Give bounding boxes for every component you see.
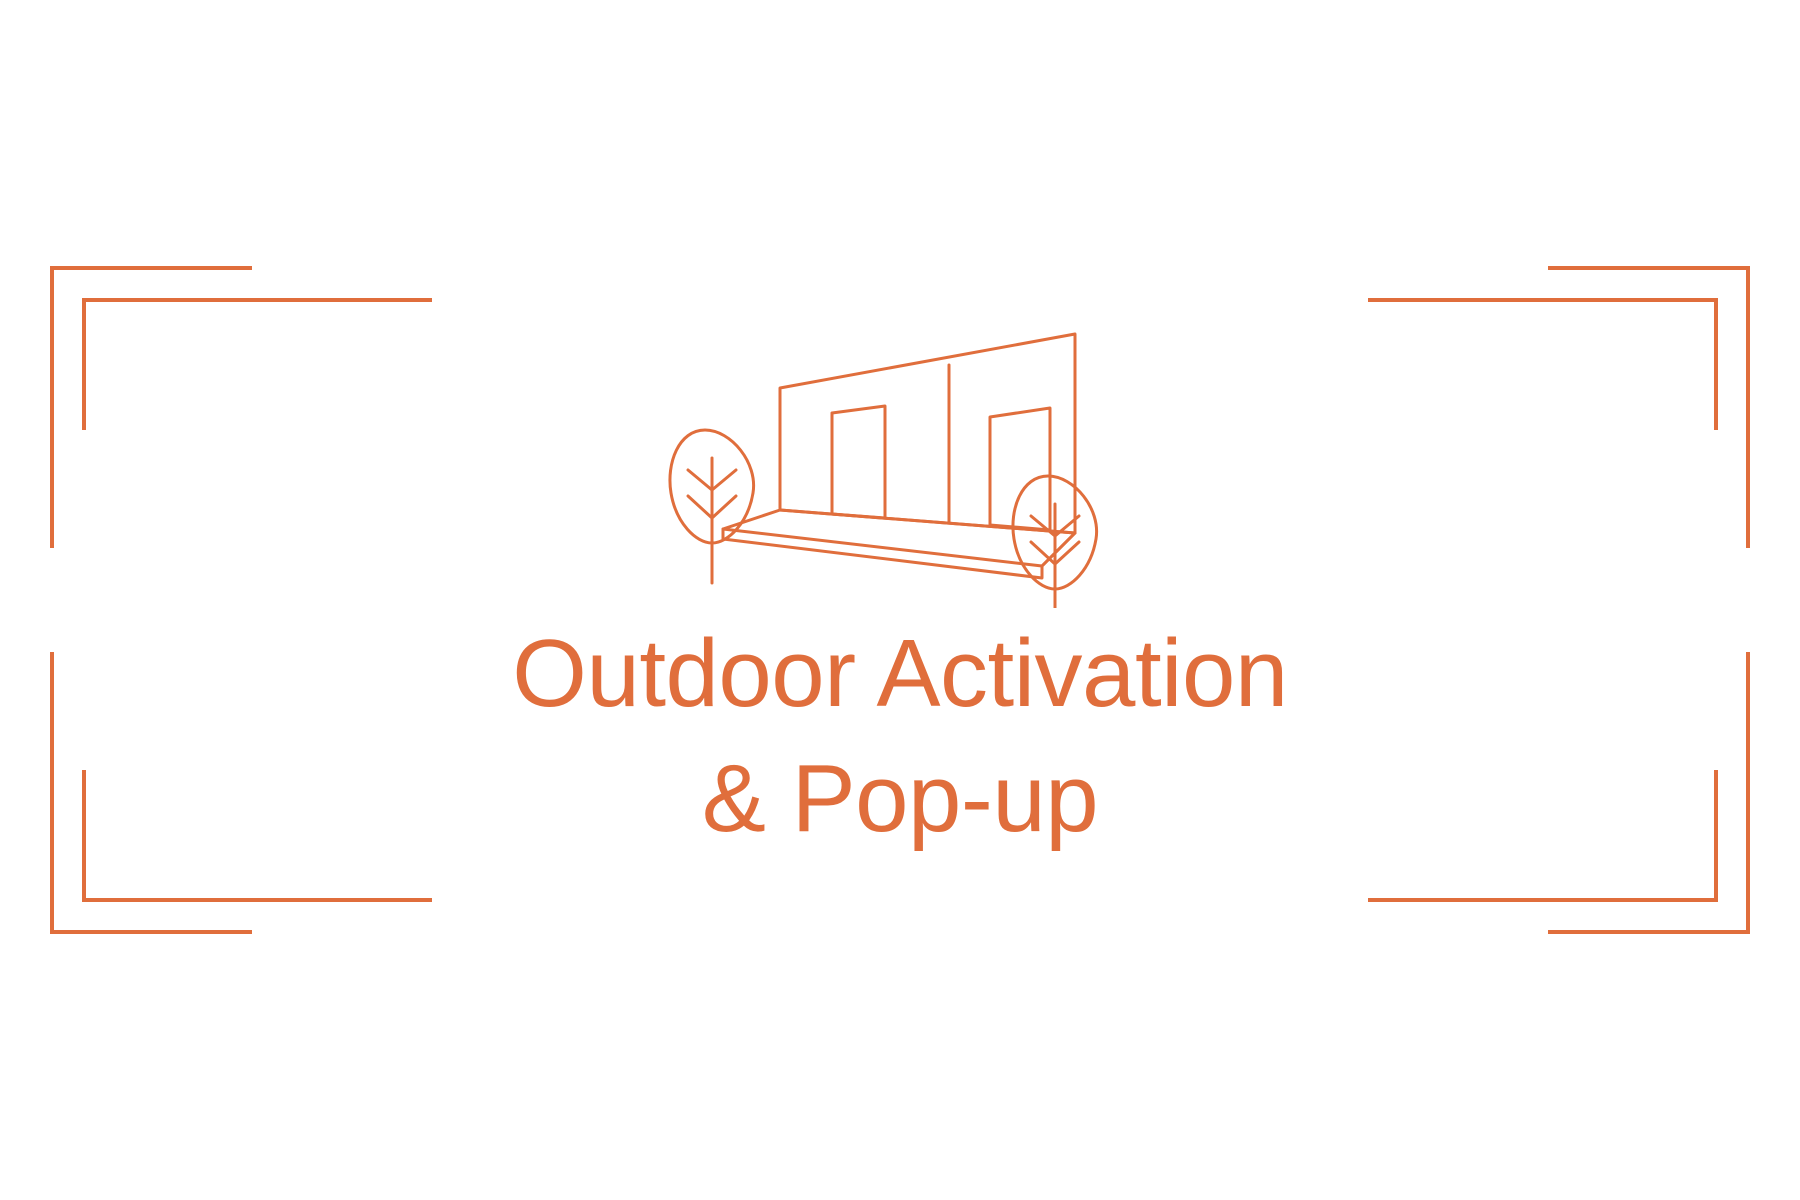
tree-left-branch-lower-right: [712, 496, 736, 518]
doorway-left: [832, 406, 885, 518]
walkway-platform-top: [723, 510, 1075, 566]
pavilion-wall: [780, 334, 1075, 533]
pavilion-svg: [660, 318, 1140, 608]
walkway-platform-front-edge: [723, 529, 1042, 578]
tree-left-icon: [670, 430, 754, 583]
title-line-1: Outdoor Activation: [0, 612, 1800, 737]
tree-right-branch-lower-right: [1055, 542, 1079, 564]
title-line-2: & Pop-up: [0, 737, 1800, 862]
slide-canvas: Outdoor Activation & Pop-up: [0, 0, 1800, 1200]
page-title: Outdoor Activation & Pop-up: [0, 612, 1800, 862]
tree-left-branch-upper-left: [688, 470, 712, 490]
tree-left-branch-lower-left: [688, 496, 712, 518]
doorway-right: [990, 408, 1050, 530]
outdoor-pavilion-illustration: [660, 318, 1140, 608]
tree-right-branch-lower-left: [1031, 542, 1055, 564]
tree-right-icon: [1013, 476, 1097, 608]
tree-left-branch-upper-right: [712, 470, 736, 490]
